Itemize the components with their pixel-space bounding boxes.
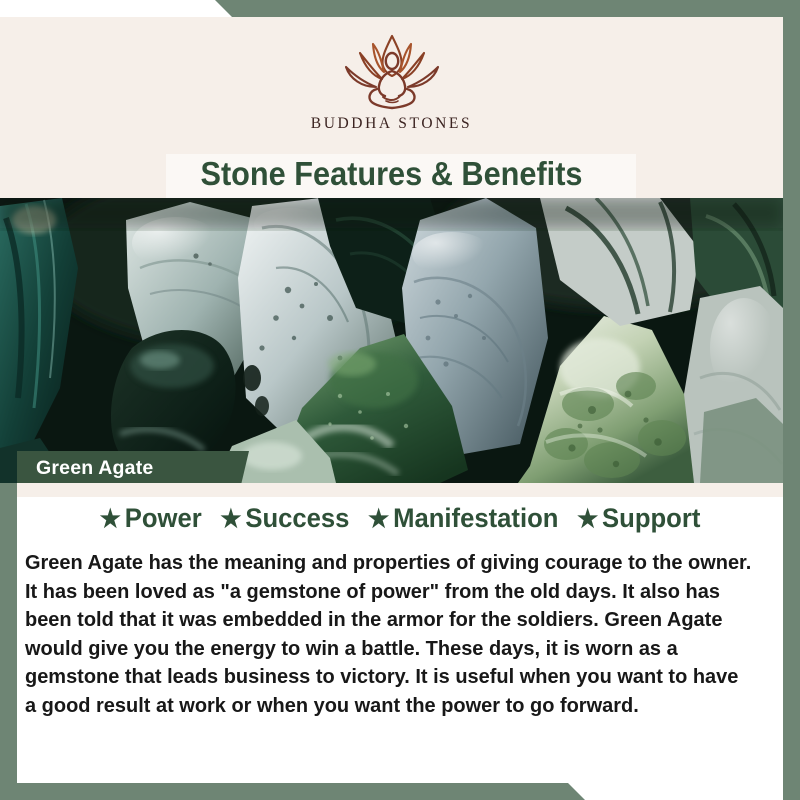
star-icon: ★: [577, 504, 598, 534]
benefit-item-support: ★Support: [577, 503, 700, 534]
star-icon: ★: [368, 504, 389, 534]
benefit-label: Support: [602, 503, 700, 533]
frame-top-bar: [0, 0, 800, 17]
stone-name-label: Green Agate: [17, 457, 153, 480]
description-text: Green Agate has the meaning and properti…: [25, 549, 754, 721]
lotus-meditation-icon: [336, 31, 448, 113]
brand-name: BUDDHA STONES: [311, 115, 472, 133]
frame-left-bar: [0, 483, 17, 800]
page-title: Stone Features & Benefits: [27, 155, 755, 193]
star-icon: ★: [100, 504, 121, 534]
benefit-label: Power: [125, 503, 202, 533]
benefit-item-power: ★Power: [100, 503, 202, 534]
stone-info-poster: BUDDHA STONES Stone Features & Benefits: [0, 0, 800, 800]
benefit-label: Success: [245, 503, 349, 533]
benefits-row: ★Power ★Success ★Manifestation ★Support: [36, 503, 764, 534]
frame-right-bar: [783, 0, 800, 800]
stone-photo-illustration: [0, 198, 783, 483]
brand-logo: BUDDHA STONES: [0, 31, 783, 133]
benefit-item-manifestation: ★Manifestation: [368, 503, 558, 534]
content-panel: ★Power ★Success ★Manifestation ★Support …: [17, 483, 783, 783]
benefit-label: Manifestation: [393, 503, 558, 533]
stone-name-banner: Green Agate: [17, 451, 249, 485]
stone-photo: [0, 198, 783, 483]
header: BUDDHA STONES Stone Features & Benefits: [0, 17, 783, 198]
benefit-item-success: ★Success: [220, 503, 349, 534]
star-icon: ★: [220, 504, 241, 534]
frame-bottom-bar: [0, 783, 800, 800]
content-top-strip: [17, 483, 783, 497]
